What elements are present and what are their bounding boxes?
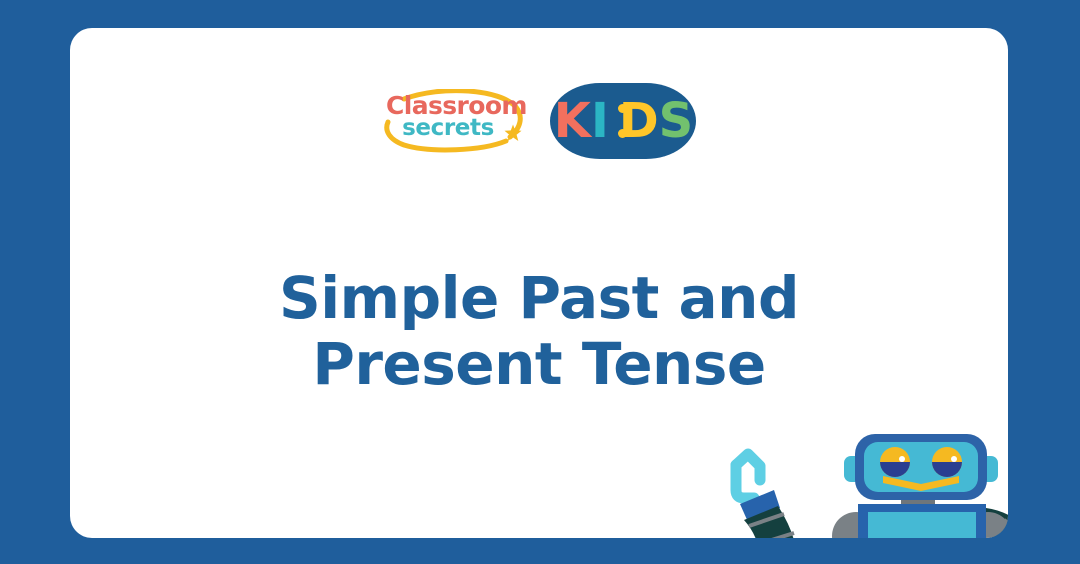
brand-logo-lockup: Classroom secrets K I D S: [70, 78, 1008, 164]
robot-body-panel: [868, 512, 976, 538]
star-icon: [503, 123, 523, 143]
kids-letter-s: S: [659, 97, 693, 145]
kids-letter-k: K: [554, 97, 590, 145]
page-title-line-2: Present Tense: [130, 331, 948, 397]
content-card: Classroom secrets K I D S: [70, 28, 1008, 538]
classroom-secrets-logo: Classroom secrets: [382, 89, 528, 153]
robot-claw-left-lower: [736, 465, 754, 498]
kids-wordmark: K I D S: [554, 97, 692, 145]
smiley-dots-icon: [618, 104, 627, 138]
slide-canvas: Classroom secrets K I D S: [0, 0, 1080, 564]
kids-letter-i: I: [591, 97, 608, 145]
robot-mascot: [718, 428, 1008, 538]
page-title-line-1: Simple Past and: [130, 265, 948, 331]
page-title: Simple Past and Present Tense: [130, 265, 948, 397]
robot-eye-right-highlight: [951, 456, 957, 462]
kids-badge: K I D S: [550, 83, 696, 159]
logo-word-secrets: secrets: [386, 117, 510, 140]
robot-eye-left-highlight: [899, 456, 905, 462]
